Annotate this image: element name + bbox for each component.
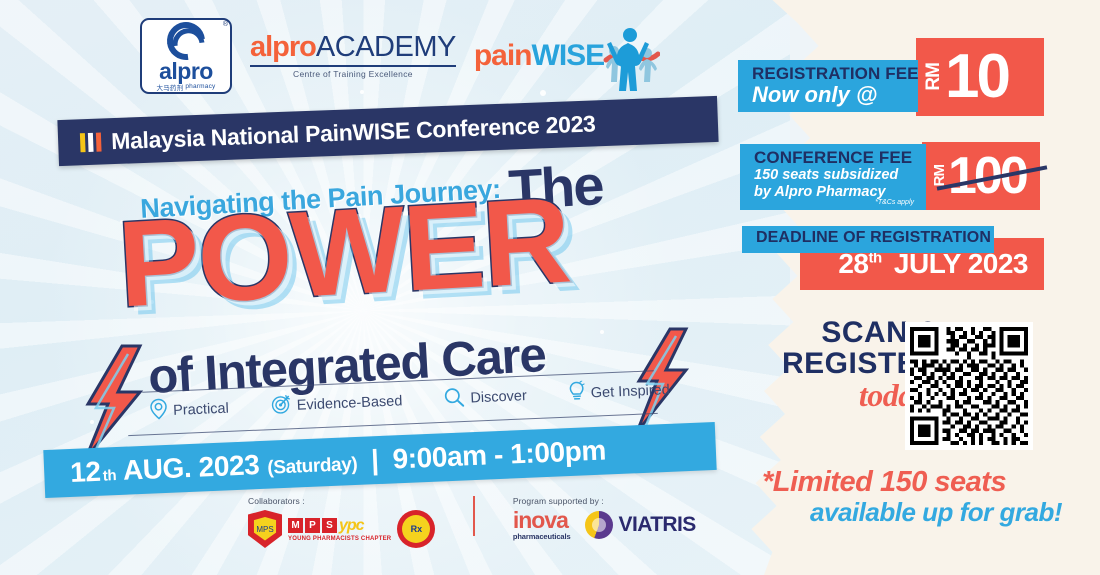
logo-row: ® alpro 大马药剂 pharmacy alproACADEMY Centr… xyxy=(140,18,660,94)
conference-promo-banner: ® alpro 大马药剂 pharmacy alproACADEMY Centr… xyxy=(0,0,1100,575)
location-pin-icon xyxy=(150,398,168,425)
painwise-wise-text: WISE xyxy=(532,39,605,72)
inova-tagline: pharmaceuticals xyxy=(513,532,571,541)
supporters-heading: Program supported by : xyxy=(513,496,696,506)
limited-seats-line2: available up for grab! xyxy=(762,497,1062,528)
alpro-pharmacy-text: pharmacy xyxy=(185,83,215,90)
qr-code[interactable] xyxy=(905,322,1033,450)
supporter-logos: inova pharmaceuticals VIATRIS xyxy=(513,510,696,541)
academy-divider xyxy=(250,65,456,67)
mps-letter: P xyxy=(305,518,320,533)
magnifier-icon xyxy=(444,386,465,412)
conference-amount: 100 xyxy=(948,155,1026,198)
academy-brand-text: alpro xyxy=(250,31,316,63)
registration-amount: 10 xyxy=(945,52,1008,103)
pharmacy-crest-inner: Rx xyxy=(402,515,430,543)
feature-label: Discover xyxy=(470,388,527,406)
feature-label: Practical xyxy=(173,401,229,419)
deadline-label-card: DEADLINE OF REGISTRATION xyxy=(742,226,994,253)
painwise-wordmark: painWISE xyxy=(474,41,604,71)
flag-bars-icon xyxy=(80,132,102,152)
date-time-separator: | xyxy=(370,444,379,476)
painwise-pain-text: pain xyxy=(474,39,532,72)
alpro-academy-logo: alproACADEMY Centre of Training Excellen… xyxy=(250,33,456,79)
hero-power-text: POWER xyxy=(116,189,572,314)
ypc-wordmark: ypc xyxy=(339,517,364,535)
lightbulb-icon xyxy=(568,381,585,408)
partners-divider xyxy=(473,496,475,536)
conference-fee-amount-card: RM 100 xyxy=(922,142,1040,210)
conference-fee-tcs: *T&Cs apply xyxy=(754,199,914,206)
conference-fee-sub2: by Alpro Pharmacy xyxy=(754,184,914,201)
academy-suffix-text: ACADEMY xyxy=(316,31,456,63)
viatris-globe-icon xyxy=(585,511,613,539)
painwise-figures-icon xyxy=(600,20,660,92)
mps-crest-inner: MPS xyxy=(253,516,277,542)
feature-discover: Discover xyxy=(444,384,527,412)
alpro-logo-subtext: 大马药剂 pharmacy xyxy=(157,82,216,92)
mps-letter: M xyxy=(288,518,303,533)
feature-practical: Practical xyxy=(150,396,230,425)
collaborator-logos: MPS M P S ypc YOUNG PHARMACISTS CHAPTER … xyxy=(248,510,435,548)
partners-zone: Collaborators : MPS M P S ypc YOUNG PHAR… xyxy=(248,496,708,568)
supporters-block: Program supported by : inova pharmaceuti… xyxy=(513,496,696,541)
target-icon xyxy=(270,394,291,420)
pharmacy-society-crest-icon: Rx xyxy=(397,510,435,548)
feature-get-inspired: Get Inspired xyxy=(568,377,670,407)
mps-ypc-logo: M P S ypc YOUNG PHARMACISTS CHAPTER xyxy=(288,517,391,542)
registration-fee-label: REGISTRATION FEE xyxy=(752,65,906,83)
conference-fee-sub1: 150 seats subsidized xyxy=(754,167,914,184)
date-day-suffix: th xyxy=(102,467,116,485)
collaborators-heading: Collaborators : xyxy=(248,496,435,506)
alpro-chinese-text: 大马药剂 xyxy=(157,82,184,92)
alpro-pharmacy-logo: ® alpro 大马药剂 pharmacy xyxy=(140,18,232,94)
feature-label: Get Inspired xyxy=(590,382,670,401)
deadline-label: DEADLINE OF REGISTRATION xyxy=(756,230,982,247)
date-weekday: (Saturday) xyxy=(267,454,358,480)
painwise-logo: painWISE xyxy=(474,20,660,92)
limited-seats-block: *Limited 150 seats available up for grab… xyxy=(762,466,1062,528)
mps-crest-icon: MPS xyxy=(248,510,282,548)
registration-fee-sub: Now only @ xyxy=(752,83,906,107)
ypc-tagline: YOUNG PHARMACISTS CHAPTER xyxy=(288,536,391,542)
inova-logo: inova pharmaceuticals xyxy=(513,510,571,541)
event-time: 9:00am - 1:00pm xyxy=(392,435,607,476)
registration-fee-label-card: REGISTRATION FEE Now only @ xyxy=(738,60,918,112)
date-month-year: AUG. 2023 xyxy=(122,449,260,487)
mps-letters: M P S ypc xyxy=(288,517,391,535)
conference-fee-label-card: CONFERENCE FEE 150 seats subsidized by A… xyxy=(740,144,926,210)
limited-seats-line1: *Limited 150 seats xyxy=(762,466,1062,499)
registered-trademark-icon: ® xyxy=(223,21,228,28)
feature-evidence-based: Evidence-Based xyxy=(270,389,403,419)
viatris-logo: VIATRIS xyxy=(585,511,696,539)
feature-label: Evidence-Based xyxy=(296,393,402,413)
academy-tagline: Centre of Training Excellence xyxy=(250,69,456,79)
hero-power-wrap: POWER xyxy=(116,189,572,314)
mps-letter: S xyxy=(322,518,337,533)
inova-wordmark: inova xyxy=(513,510,571,532)
viatris-wordmark: VIATRIS xyxy=(619,513,696,537)
registration-fee-amount-card: RM 10 xyxy=(916,38,1044,116)
academy-wordmark: alproACADEMY xyxy=(250,33,456,62)
conference-fee-label: CONFERENCE FEE xyxy=(754,149,914,167)
registration-currency: RM xyxy=(924,63,943,91)
alpro-logo-wordmark: alpro xyxy=(159,61,213,82)
collaborators-block: Collaborators : MPS M P S ypc YOUNG PHAR… xyxy=(248,496,435,548)
conference-title: Malaysia National PainWISE Conference 20… xyxy=(111,110,596,155)
conference-currency: RM xyxy=(932,165,947,186)
date-day: 12 xyxy=(70,456,102,489)
